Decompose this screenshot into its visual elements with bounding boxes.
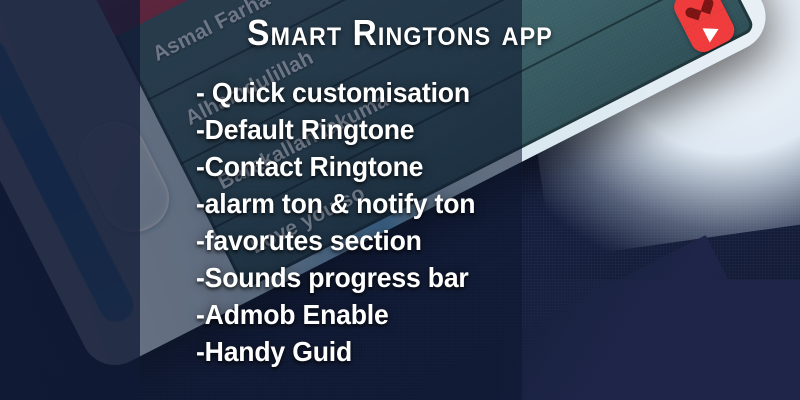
feature-item: -alarm ton & notify ton [196, 185, 709, 222]
play-triangle-icon[interactable] [749, 136, 756, 185]
page-title: Smart Ringtons app [28, 12, 772, 54]
row-controls[interactable] [735, 109, 756, 185]
overlay-left-panel [0, 0, 140, 400]
feature-list: - Quick customisation -Default Ringtone … [196, 74, 736, 370]
poster-canvas: Ringtones Favourites Asmal Farha [0, 0, 800, 400]
feature-item: -Handy Guid [196, 333, 709, 370]
feature-item: -favorutes section [196, 222, 709, 259]
feature-item: - Quick customisation [196, 74, 709, 111]
feature-item: -Sounds progress bar [196, 259, 709, 296]
feature-item: -Admob Enable [196, 296, 709, 333]
heart-icon[interactable] [735, 109, 756, 158]
feature-item: -Default Ringtone [196, 111, 709, 148]
feature-item: -Contact Ringtone [196, 148, 709, 185]
